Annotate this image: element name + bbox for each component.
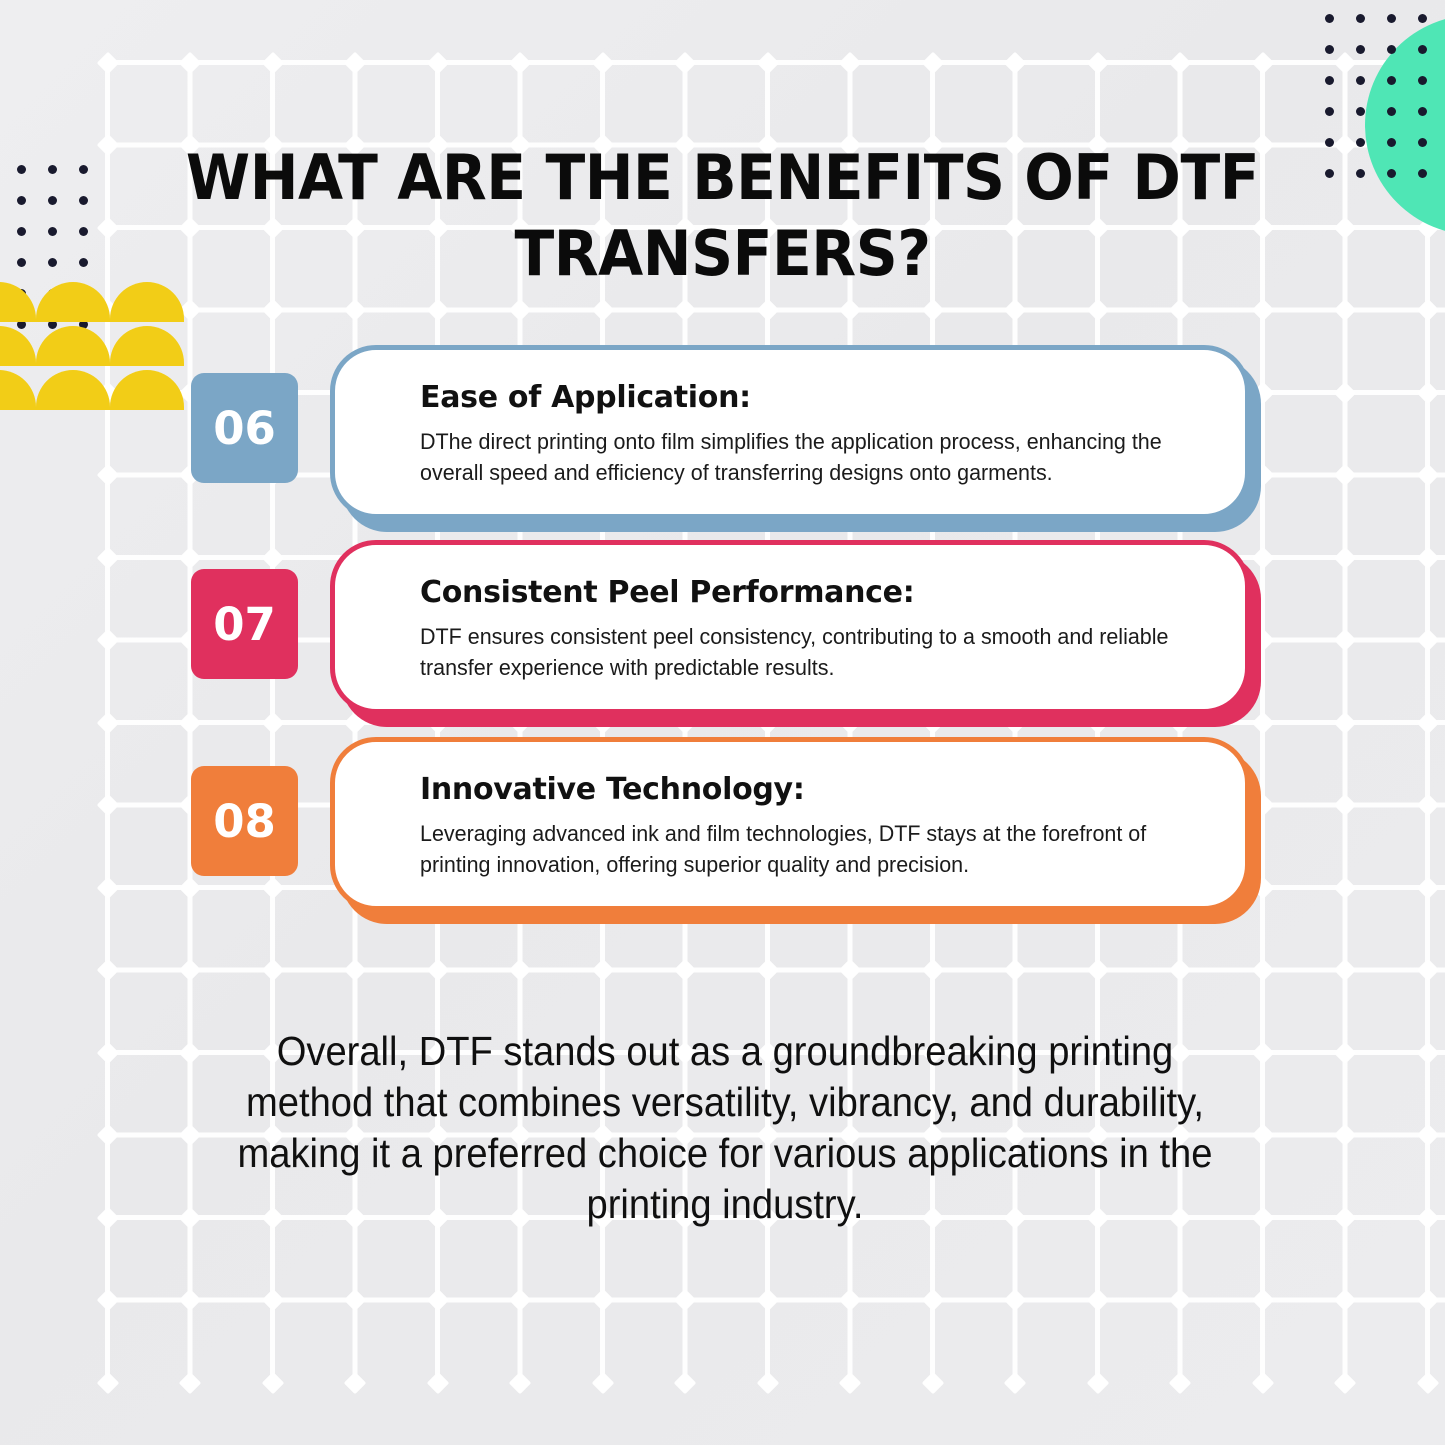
grid-diamond bbox=[756, 1371, 779, 1394]
grid-diamond bbox=[1334, 1371, 1357, 1394]
grid-diamond bbox=[1169, 51, 1192, 74]
benefit-body-08: Leveraging advanced ink and film technol… bbox=[420, 818, 1170, 880]
yellow-semicircle bbox=[0, 370, 36, 410]
grid-diamond bbox=[591, 51, 614, 74]
grid-diamond bbox=[921, 51, 944, 74]
grid-diamond bbox=[839, 1289, 862, 1312]
benefit-title-06: Ease of Application: bbox=[420, 378, 1205, 418]
grid-diamond bbox=[344, 959, 367, 982]
grid-diamond bbox=[1251, 51, 1274, 74]
decor-dot bbox=[1387, 107, 1396, 116]
benefit-card-wrapper-08: Innovative Technology: Leveraging advanc… bbox=[330, 737, 1250, 911]
grid-diamond bbox=[96, 1124, 119, 1147]
grid-diamond bbox=[1251, 1371, 1274, 1394]
grid-diamond bbox=[1416, 1371, 1439, 1394]
grid-diamond bbox=[921, 1289, 944, 1312]
grid-diamond bbox=[96, 464, 119, 487]
grid-diamond bbox=[1416, 381, 1439, 404]
grid-diamond bbox=[96, 51, 119, 74]
benefit-number-badge-06: 06 bbox=[191, 373, 298, 483]
grid-diamond bbox=[1334, 381, 1357, 404]
benefit-card-wrapper-06: Ease of Application: DThe direct printin… bbox=[330, 345, 1250, 519]
grid-diamond bbox=[96, 959, 119, 982]
decor-dot bbox=[1325, 107, 1334, 116]
grid-diamond bbox=[1416, 1041, 1439, 1064]
grid-diamond bbox=[179, 546, 202, 569]
grid-diamond bbox=[839, 51, 862, 74]
yellow-semicircle bbox=[0, 326, 36, 366]
grid-diamond bbox=[756, 51, 779, 74]
grid-diamond bbox=[921, 959, 944, 982]
grid-diamond bbox=[674, 959, 697, 982]
grid-diamond bbox=[756, 299, 779, 322]
grid-diamond bbox=[179, 1041, 202, 1064]
grid-diamond bbox=[1334, 1289, 1357, 1312]
decor-dot bbox=[1325, 138, 1334, 147]
grid-diamond bbox=[674, 1371, 697, 1394]
grid-diamond bbox=[96, 629, 119, 652]
grid-diamond bbox=[1004, 51, 1027, 74]
teal-circle-decor bbox=[1365, 15, 1445, 235]
grid-diamond bbox=[261, 51, 284, 74]
grid-diamond bbox=[1334, 464, 1357, 487]
grid-diamond bbox=[426, 959, 449, 982]
grid-diamond bbox=[1251, 1206, 1274, 1229]
grid-diamond bbox=[1251, 1124, 1274, 1147]
page-title: WHAT ARE THE BENEFITS OF DTF TRANSFERS? bbox=[175, 140, 1270, 292]
grid-diamond bbox=[839, 299, 862, 322]
decor-dot bbox=[48, 165, 57, 174]
grid-diamond bbox=[1004, 299, 1027, 322]
grid-diamond bbox=[426, 299, 449, 322]
grid-diamond bbox=[1086, 1371, 1109, 1394]
grid-diamond bbox=[344, 51, 367, 74]
decor-dot bbox=[1387, 76, 1396, 85]
decor-dot bbox=[48, 196, 57, 205]
grid-diamond bbox=[1004, 1371, 1027, 1394]
grid-diamond bbox=[1334, 959, 1357, 982]
grid-diamond bbox=[591, 299, 614, 322]
decor-dot bbox=[1356, 107, 1365, 116]
grid-diamond bbox=[1334, 299, 1357, 322]
grid-diamond bbox=[426, 1289, 449, 1312]
grid-diamond bbox=[96, 876, 119, 899]
grid-diamond bbox=[1251, 546, 1274, 569]
grid-diamond bbox=[96, 546, 119, 569]
grid-diamond bbox=[1251, 959, 1274, 982]
decor-dot bbox=[1418, 45, 1427, 54]
grid-diamond bbox=[179, 959, 202, 982]
grid-diamond bbox=[1251, 1041, 1274, 1064]
decor-dot bbox=[1356, 14, 1365, 23]
grid-diamond bbox=[1334, 51, 1357, 74]
grid-diamond bbox=[1334, 216, 1357, 239]
grid-diamond bbox=[344, 1371, 367, 1394]
grid-diamond bbox=[1334, 134, 1357, 157]
grid-diamond bbox=[1086, 1289, 1109, 1312]
decor-dot bbox=[1387, 138, 1396, 147]
decor-dot bbox=[17, 227, 26, 236]
yellow-semicircle bbox=[110, 282, 184, 322]
infographic-poster: WHAT ARE THE BENEFITS OF DTF TRANSFERS? … bbox=[0, 0, 1445, 1445]
grid-diamond bbox=[591, 1371, 614, 1394]
grid-diamond bbox=[426, 1371, 449, 1394]
grid-diamond bbox=[921, 299, 944, 322]
decor-dot bbox=[79, 258, 88, 267]
benefit-body-06: DThe direct printing onto film simplifie… bbox=[420, 426, 1170, 488]
grid-diamond bbox=[261, 711, 284, 734]
grid-diamond bbox=[179, 1289, 202, 1312]
decor-dot bbox=[1325, 169, 1334, 178]
grid-diamond bbox=[261, 1289, 284, 1312]
grid-diamond bbox=[756, 959, 779, 982]
grid-diamond bbox=[509, 1289, 532, 1312]
grid-diamond bbox=[96, 134, 119, 157]
grid-diamond bbox=[1334, 794, 1357, 817]
grid-diamond bbox=[1334, 1124, 1357, 1147]
decor-dot bbox=[1356, 45, 1365, 54]
grid-diamond bbox=[261, 546, 284, 569]
grid-diamond bbox=[591, 1289, 614, 1312]
grid-diamond bbox=[509, 1371, 532, 1394]
grid-diamond bbox=[261, 959, 284, 982]
grid-diamond bbox=[839, 1371, 862, 1394]
grid-diamond bbox=[1251, 1289, 1274, 1312]
grid-diamond bbox=[1169, 1371, 1192, 1394]
grid-diamond bbox=[179, 876, 202, 899]
benefit-title-07: Consistent Peel Performance: bbox=[420, 573, 1205, 613]
grid-diamond bbox=[344, 1289, 367, 1312]
grid-diamond bbox=[674, 1289, 697, 1312]
yellow-semicircle bbox=[36, 282, 110, 322]
decor-dot bbox=[1387, 14, 1396, 23]
grid-diamond bbox=[1004, 1289, 1027, 1312]
grid-diamond bbox=[261, 1371, 284, 1394]
grid-diamond bbox=[1416, 546, 1439, 569]
decor-dot bbox=[1418, 138, 1427, 147]
grid-diamond bbox=[1169, 1289, 1192, 1312]
decor-dot bbox=[79, 165, 88, 174]
grid-diamond bbox=[96, 1206, 119, 1229]
decor-dot bbox=[1325, 14, 1334, 23]
yellow-semicircle bbox=[36, 326, 110, 366]
decor-dot bbox=[1418, 76, 1427, 85]
grid-diamond bbox=[509, 51, 532, 74]
grid-diamond bbox=[1416, 629, 1439, 652]
grid-diamond bbox=[1251, 299, 1274, 322]
grid-diamond bbox=[1416, 464, 1439, 487]
closing-paragraph: Overall, DTF stands out as a groundbreak… bbox=[214, 1026, 1237, 1230]
grid-diamond bbox=[674, 299, 697, 322]
grid-diamond bbox=[1334, 711, 1357, 734]
grid-diamond bbox=[509, 959, 532, 982]
grid-diamond bbox=[179, 711, 202, 734]
grid-diamond bbox=[261, 876, 284, 899]
grid-diamond bbox=[96, 1289, 119, 1312]
grid-diamond bbox=[96, 216, 119, 239]
benefit-number-badge-08: 08 bbox=[191, 766, 298, 876]
decor-dot bbox=[1325, 45, 1334, 54]
grid-diamond bbox=[1086, 299, 1109, 322]
grid-diamond bbox=[1334, 629, 1357, 652]
decor-dot bbox=[79, 196, 88, 205]
grid-diamond bbox=[96, 1371, 119, 1394]
yellow-semicircle bbox=[36, 370, 110, 410]
benefit-card-08[interactable]: Innovative Technology: Leveraging advanc… bbox=[330, 737, 1250, 911]
grid-diamond bbox=[839, 959, 862, 982]
grid-diamond bbox=[1334, 876, 1357, 899]
grid-diamond bbox=[1334, 1041, 1357, 1064]
decor-dot bbox=[17, 258, 26, 267]
grid-diamond bbox=[179, 1371, 202, 1394]
decor-dot bbox=[1356, 138, 1365, 147]
benefit-body-07: DTF ensures consistent peel consistency,… bbox=[420, 621, 1170, 683]
grid-diamond bbox=[1086, 51, 1109, 74]
grid-diamond bbox=[179, 1206, 202, 1229]
decor-dot bbox=[1387, 45, 1396, 54]
grid-diamond bbox=[179, 1124, 202, 1147]
grid-diamond bbox=[1004, 959, 1027, 982]
yellow-semicircle bbox=[110, 370, 184, 410]
grid-diamond bbox=[344, 299, 367, 322]
grid-diamond bbox=[1416, 876, 1439, 899]
grid-diamond bbox=[674, 51, 697, 74]
grid-diamond bbox=[1416, 1124, 1439, 1147]
decor-dot bbox=[79, 227, 88, 236]
decor-dot bbox=[1418, 14, 1427, 23]
benefit-card-wrapper-07: Consistent Peel Performance: DTF ensures… bbox=[330, 540, 1250, 714]
yellow-semicircle bbox=[110, 326, 184, 366]
grid-diamond bbox=[179, 51, 202, 74]
grid-diamond bbox=[756, 1289, 779, 1312]
benefit-title-08: Innovative Technology: bbox=[420, 770, 1205, 810]
decor-dot bbox=[1418, 169, 1427, 178]
decor-dot bbox=[17, 196, 26, 205]
grid-diamond bbox=[261, 299, 284, 322]
benefit-card-06[interactable]: Ease of Application: DThe direct printin… bbox=[330, 345, 1250, 519]
grid-diamond bbox=[96, 794, 119, 817]
grid-diamond bbox=[1086, 959, 1109, 982]
grid-diamond bbox=[1416, 959, 1439, 982]
grid-diamond bbox=[1251, 711, 1274, 734]
decor-dot bbox=[1325, 76, 1334, 85]
yellow-semicircle bbox=[0, 282, 36, 322]
grid-diamond bbox=[1416, 1206, 1439, 1229]
decor-dot bbox=[1387, 169, 1396, 178]
grid-diamond bbox=[1334, 546, 1357, 569]
grid-diamond bbox=[1416, 794, 1439, 817]
decor-dot bbox=[48, 227, 57, 236]
decor-dot bbox=[1418, 107, 1427, 116]
grid-diamond bbox=[1416, 711, 1439, 734]
grid-diamond bbox=[1334, 1206, 1357, 1229]
grid-diamond bbox=[426, 51, 449, 74]
decor-dot bbox=[1356, 76, 1365, 85]
grid-diamond bbox=[1169, 299, 1192, 322]
benefit-card-07[interactable]: Consistent Peel Performance: DTF ensures… bbox=[330, 540, 1250, 714]
decor-dot bbox=[17, 165, 26, 174]
grid-diamond bbox=[921, 1371, 944, 1394]
decor-dot bbox=[1356, 169, 1365, 178]
grid-diamond bbox=[96, 1041, 119, 1064]
grid-diamond bbox=[591, 959, 614, 982]
decor-dot bbox=[48, 258, 57, 267]
grid-diamond bbox=[509, 299, 532, 322]
grid-diamond bbox=[96, 711, 119, 734]
grid-diamond bbox=[1416, 299, 1439, 322]
benefit-number-badge-07: 07 bbox=[191, 569, 298, 679]
grid-diamond bbox=[1416, 1289, 1439, 1312]
grid-diamond bbox=[1169, 959, 1192, 982]
